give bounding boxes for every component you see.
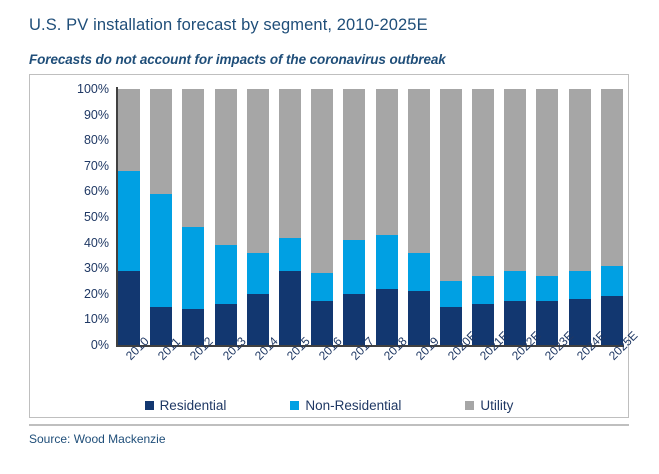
bar-column[interactable] [182, 89, 204, 345]
bar-segment-residential [279, 271, 301, 345]
bar-segment-utility [504, 89, 526, 271]
bar-segment-non-residential [215, 245, 237, 304]
chart-frame: 0%10%20%30%40%50%60%70%80%90%100% 201020… [29, 74, 629, 418]
bar-segment-non-residential [504, 271, 526, 302]
bar-segment-utility [279, 89, 301, 237]
bar-segment-non-residential [279, 238, 301, 271]
bar-segment-utility [150, 89, 172, 194]
bar-segment-utility [536, 89, 558, 276]
bar-segment-non-residential [311, 273, 333, 301]
legend-label: Non-Residential [305, 398, 401, 413]
bar-segment-utility [182, 89, 204, 227]
y-tick-label: 40% [84, 236, 109, 250]
bar-segment-non-residential [408, 253, 430, 291]
y-tick-label: 70% [84, 159, 109, 173]
y-tick-label: 90% [84, 108, 109, 122]
bar-segment-utility [408, 89, 430, 253]
bar-segment-utility [247, 89, 269, 253]
chart-page: U.S. PV installation forecast by segment… [0, 0, 659, 474]
legend-item[interactable]: Non-Residential [290, 398, 401, 413]
bar-column[interactable] [440, 89, 462, 345]
bar-segment-utility [601, 89, 623, 266]
bar-segment-utility [472, 89, 494, 276]
y-tick-label: 60% [84, 184, 109, 198]
source-note: Source: Wood Mackenzie [29, 432, 166, 446]
bar-segment-utility [215, 89, 237, 245]
bar-segment-non-residential [376, 235, 398, 289]
bar-segment-non-residential [118, 171, 140, 271]
bar-segment-utility [440, 89, 462, 281]
bar-segment-non-residential [440, 281, 462, 307]
chart-subtitle: Forecasts do not account for impacts of … [29, 52, 446, 67]
bar-column[interactable] [311, 89, 333, 345]
legend-item[interactable]: Residential [145, 398, 227, 413]
bar-column[interactable] [150, 89, 172, 345]
bar-column[interactable] [601, 89, 623, 345]
bar-column[interactable] [343, 89, 365, 345]
bar-segment-non-residential [343, 240, 365, 294]
footer-divider [29, 424, 629, 426]
bar-segment-utility [376, 89, 398, 235]
bar-column[interactable] [472, 89, 494, 345]
bar-column[interactable] [569, 89, 591, 345]
bar-segment-non-residential [536, 276, 558, 302]
bar-segment-utility [343, 89, 365, 240]
bar-segment-utility [311, 89, 333, 273]
bar-segment-non-residential [150, 194, 172, 307]
y-tick-label: 20% [84, 287, 109, 301]
legend-swatch-icon [290, 401, 299, 410]
bar-segment-non-residential [601, 266, 623, 297]
bar-column[interactable] [279, 89, 301, 345]
bar-segment-residential [118, 271, 140, 345]
bar-segment-non-residential [182, 227, 204, 309]
bar-segment-utility [118, 89, 140, 171]
bar-column[interactable] [118, 89, 140, 345]
y-tick-label: 50% [84, 210, 109, 224]
bar-column[interactable] [536, 89, 558, 345]
bar-segment-non-residential [472, 276, 494, 304]
bar-segment-non-residential [569, 271, 591, 299]
y-tick-label: 10% [84, 312, 109, 326]
legend-label: Residential [160, 398, 227, 413]
y-tick-label: 100% [77, 82, 109, 96]
bar-column[interactable] [376, 89, 398, 345]
bar-column[interactable] [247, 89, 269, 345]
bar-column[interactable] [408, 89, 430, 345]
bar-column[interactable] [504, 89, 526, 345]
chart-legend: ResidentialNon-ResidentialUtility [29, 394, 629, 416]
bar-segment-residential [376, 289, 398, 345]
legend-swatch-icon [145, 401, 154, 410]
bar-segment-residential [247, 294, 269, 345]
bar-column[interactable] [215, 89, 237, 345]
bar-group [118, 89, 623, 345]
y-tick-label: 80% [84, 133, 109, 147]
y-tick-label: 30% [84, 261, 109, 275]
plot-area [118, 89, 623, 345]
legend-swatch-icon [465, 401, 474, 410]
bar-segment-utility [569, 89, 591, 271]
legend-item[interactable]: Utility [465, 398, 513, 413]
y-tick-label: 0% [91, 338, 109, 352]
page-title: U.S. PV installation forecast by segment… [29, 16, 428, 35]
bar-segment-residential [408, 291, 430, 345]
bar-segment-non-residential [247, 253, 269, 294]
legend-label: Utility [480, 398, 513, 413]
